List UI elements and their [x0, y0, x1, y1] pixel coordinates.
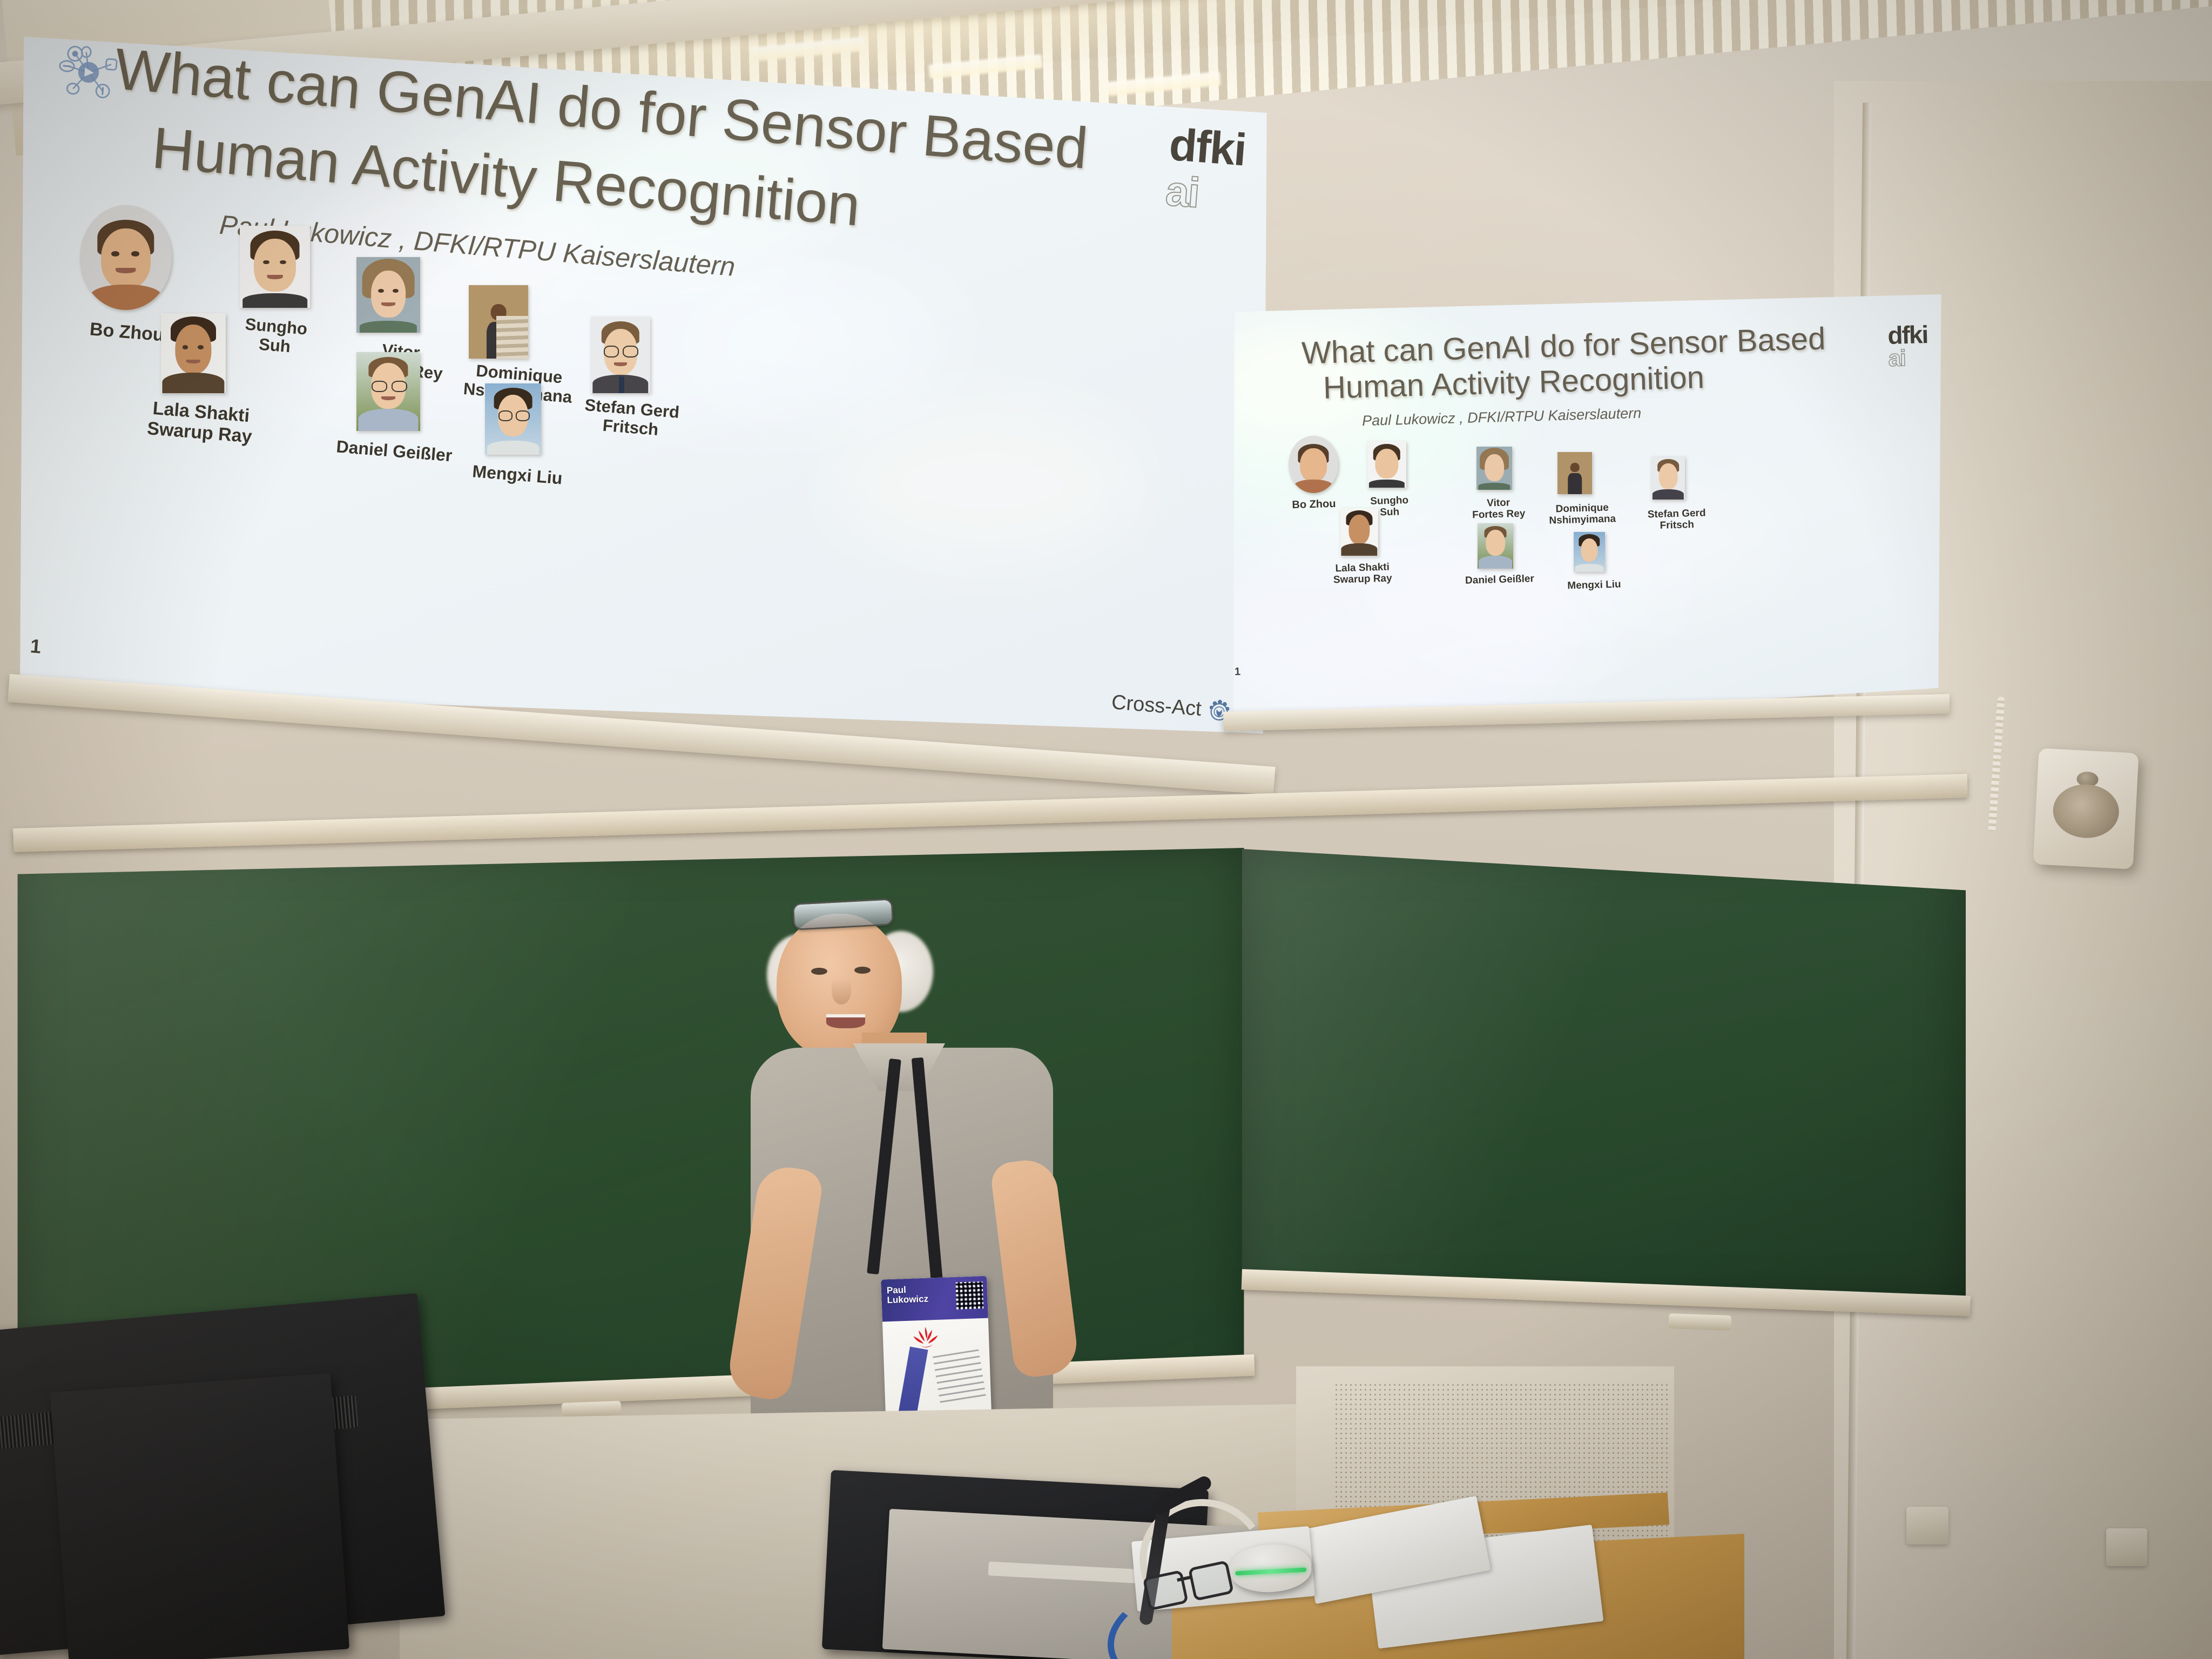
person-name: Stefan Gerd Fritsch: [1636, 507, 1717, 532]
desktop-monitor-secondary: [50, 1373, 349, 1659]
face: [1300, 448, 1327, 481]
cross-act-footer: Cross-Act: [1111, 690, 1233, 724]
slide-main: dfki ai What can GenAI do for Sensor Bas…: [16, 15, 1272, 733]
stairs-background: [496, 316, 528, 359]
eye: [263, 260, 269, 265]
portrait-photo: [1557, 452, 1592, 494]
board-clip: [1669, 1313, 1732, 1331]
person-name-line-1: Vitor: [1487, 497, 1510, 509]
shoulders: [1653, 489, 1684, 500]
eye: [198, 345, 204, 349]
person-name-line-1: Dominique: [1555, 502, 1609, 515]
badge-ribbon: [898, 1347, 928, 1417]
person-name: Lala Shakti Swarup Ray: [120, 395, 280, 449]
dfki-logo: dfki ai: [1887, 320, 1928, 372]
necktie: [619, 376, 624, 393]
slide-page-number: 1: [29, 635, 42, 658]
face: [1659, 463, 1678, 489]
face: [254, 239, 296, 291]
wall-outlet[interactable]: [1906, 1507, 1948, 1545]
slide-page-number: 1: [1235, 666, 1241, 678]
shoulders: [1294, 480, 1333, 493]
eye: [111, 251, 119, 257]
person-name: Bo Zhou: [1279, 497, 1350, 511]
eyeglasses: [516, 410, 530, 421]
projection-screen-main: dfki ai What can GenAI do for Sensor Bas…: [16, 15, 1272, 733]
person-name-line-1: Mengxi Liu: [471, 461, 563, 488]
person-name-line-2: Fritsch: [602, 416, 659, 439]
bloom-cyan: [697, 285, 923, 409]
bloom-amber: [837, 404, 1139, 566]
person-name-line-1: Bo Zhou: [89, 319, 165, 346]
shoulders: [1575, 564, 1603, 572]
person-name: Lala Shakti Swarup Ray: [1321, 561, 1403, 586]
mouth: [267, 275, 283, 279]
badge-detail-text: [933, 1349, 986, 1404]
person-name-line-1: Stefan Gerd: [1648, 508, 1706, 521]
person-name-line-2: Suh: [1380, 507, 1399, 518]
portrait-photo: [240, 226, 310, 308]
person-name-line-2: Swarup Ray: [1333, 573, 1392, 586]
face: [1375, 449, 1398, 478]
nose: [832, 979, 851, 1004]
eyeglasses: [498, 410, 512, 421]
qr-code: [955, 1282, 983, 1310]
board-clip: [562, 1401, 622, 1417]
portrait-photo: [80, 205, 172, 310]
person-name-line-1: Mengxi Liu: [1567, 579, 1621, 592]
shoulders: [487, 441, 539, 455]
wall-speaker: [2033, 748, 2139, 869]
portrait-photo: [356, 257, 420, 333]
slide-surface: dfki ai What can GenAI do for Sensor Bas…: [1226, 294, 1944, 732]
shoulders: [242, 293, 307, 308]
face: [371, 271, 406, 318]
face: [1570, 463, 1580, 472]
face: [1486, 530, 1505, 556]
face: [1348, 515, 1370, 544]
portrait-photo: [1367, 441, 1406, 488]
person-name: Mengxi Liu: [452, 460, 583, 490]
conference-badge[interactable]: Paul Lukowicz: [881, 1276, 992, 1430]
face: [175, 325, 211, 374]
person-name-line-1: Daniel Geißler: [1465, 573, 1534, 586]
shoulders: [162, 373, 224, 393]
eyeglasses: [372, 381, 387, 393]
eye: [811, 968, 827, 975]
eyeglasses: [392, 381, 407, 393]
lecture-hall-scene: dfki ai What can GenAI do for Sensor Bas…: [0, 0, 2212, 1659]
portrait-photo: [485, 383, 541, 455]
board-sheen: [1242, 849, 1966, 1308]
shoulders: [1369, 480, 1405, 488]
person-name-line-2: Fritsch: [1660, 519, 1694, 531]
person-name: Daniel Geißler: [1459, 573, 1541, 586]
wall-outlet[interactable]: [2106, 1528, 2147, 1566]
portrait-photo: [469, 285, 528, 359]
portrait-photo: [1340, 508, 1378, 556]
face: [101, 228, 151, 289]
person-name-line-2: Nshimyimana: [1549, 514, 1616, 527]
mouth: [381, 302, 395, 306]
dfki-ai-wordmark: ai: [1164, 166, 1244, 221]
slide-surface: dfki ai What can GenAI do for Sensor Bas…: [16, 15, 1272, 733]
person-name-line-2: Fortes Rey: [1472, 508, 1526, 521]
portrait-photo: [1651, 456, 1685, 500]
eyeglasses-on-head[interactable]: [792, 898, 894, 930]
eye: [854, 967, 871, 974]
shoulders: [360, 321, 417, 333]
person-name: Vitor Fortes Rey: [1463, 496, 1534, 521]
portrait-photo: [1478, 523, 1513, 569]
person-name-line-1: Sungho: [1370, 495, 1408, 507]
eye: [378, 289, 384, 293]
shoulders: [359, 409, 419, 431]
badge-name-line-2: Lukowicz: [887, 1293, 928, 1305]
blackboard-right: [1242, 849, 1966, 1308]
mouth: [826, 1014, 865, 1028]
eyeglasses: [604, 346, 619, 358]
person-name-line-1: Lala Shakti: [1335, 562, 1390, 575]
face: [1485, 454, 1504, 481]
face: [1581, 538, 1597, 562]
projection-screen-secondary: dfki ai What can GenAI do for Sensor Bas…: [1226, 294, 1944, 732]
person-name-line-1: Daniel Geißler: [335, 436, 453, 465]
shoulders: [1568, 473, 1582, 494]
person-name: Dominique Nshimyimana: [1539, 502, 1626, 527]
slide-secondary: dfki ai What can GenAI do for Sensor Bas…: [1226, 294, 1944, 732]
portrait-photo: [1574, 532, 1605, 572]
badge-name: Paul Lukowicz: [887, 1284, 929, 1305]
shoulders: [90, 285, 162, 310]
portrait-photo: [356, 352, 420, 431]
dfki-logo: dfki ai: [1164, 118, 1247, 221]
shoulders: [1341, 543, 1377, 556]
speaker-woofer: [2052, 783, 2120, 839]
person-name-line-1: Bo Zhou: [1292, 498, 1336, 511]
mouth: [116, 268, 136, 273]
eye: [393, 289, 399, 293]
eye: [183, 345, 188, 349]
shoulders: [1478, 483, 1510, 490]
person-name: Mengxi Liu: [1556, 578, 1633, 592]
portrait-photo: [1476, 447, 1512, 490]
person-name-line-2: Suh: [258, 334, 291, 356]
portrait-photo: [161, 313, 226, 393]
portrait-photo: [591, 316, 650, 393]
portrait-photo: [1289, 436, 1338, 493]
cross-act-label: Cross-Act: [1111, 691, 1203, 721]
shoulders: [1479, 556, 1512, 569]
person-name: Daniel Geißler: [318, 436, 470, 467]
eyeglasses: [623, 346, 638, 358]
